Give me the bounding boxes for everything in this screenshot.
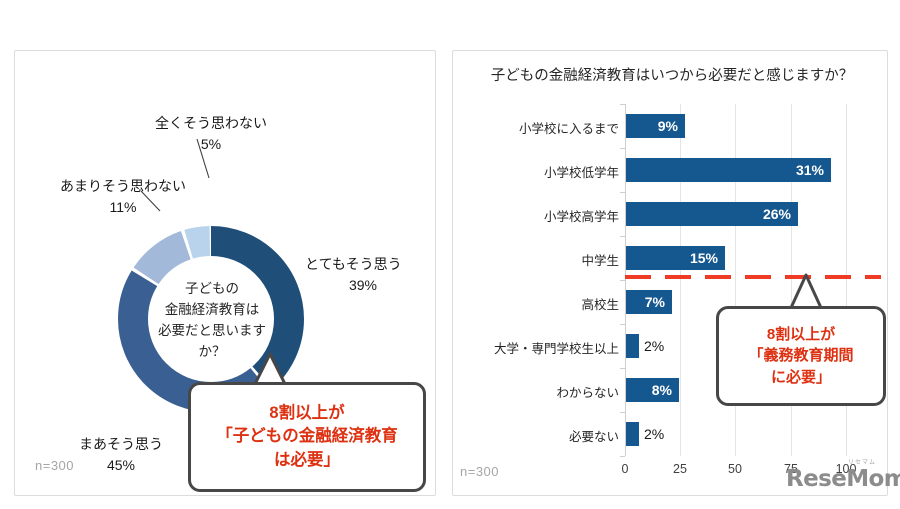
bar-category-1: 小学校低学年 <box>459 162 619 181</box>
y-tick-1 <box>620 148 625 149</box>
bar-value-4: 7% <box>645 294 672 310</box>
bar-category-7: 必要ない <box>459 426 619 445</box>
y-axis-line <box>625 104 626 456</box>
gridline-25 <box>680 104 681 456</box>
resemom-logo: ReseMom. リセマム <box>786 466 900 492</box>
y-tick-2 <box>620 192 625 193</box>
callout-left-line-3: は必要」 <box>216 449 398 472</box>
donut-label-zenku-name: 全くそう思わない <box>121 113 301 134</box>
bar-category-0: 小学校に入るまで <box>459 118 619 137</box>
bar-category-2: 小学校高学年 <box>459 206 619 225</box>
donut-label-maa-name: まあそう思う <box>51 434 191 455</box>
bar-row-6: 8% <box>626 378 679 402</box>
resemom-logo-kana: リセマム <box>848 457 876 466</box>
bar-row-7 <box>626 422 639 446</box>
bar-value-2: 26% <box>763 206 798 222</box>
bar-category-3: 中学生 <box>459 250 619 269</box>
sample-size-left: n=300 <box>35 458 74 473</box>
x-tick-label-50: 50 <box>728 462 742 476</box>
annotation-dashed-line <box>625 275 881 279</box>
bar-row-4: 7% <box>626 290 672 314</box>
donut-label-amari: あまりそう思わない 11% <box>33 176 213 218</box>
x-tick-label-25: 25 <box>673 462 687 476</box>
y-tick-8 <box>620 456 625 457</box>
bar-value-5: 2% <box>644 338 664 354</box>
bar-category-4: 高校生 <box>459 294 619 313</box>
callout-left-line-1: 8割以上が <box>216 402 398 425</box>
bar-category-6: わからない <box>459 382 619 401</box>
callout-right-line-2: 「義務教育期間 <box>748 345 853 366</box>
donut-label-totemo-pct: 39% <box>305 275 421 296</box>
screenshot-root: 全くそう思わない 5% あまりそう思わない 11% とてもそう思う 39% まあ… <box>0 0 900 509</box>
resemom-logo-text: ReseMom. <box>786 466 900 492</box>
donut-center-line-3: 必要だと思います <box>135 321 289 342</box>
y-tick-4 <box>620 280 625 281</box>
bar-value-6: 8% <box>652 382 679 398</box>
callout-left: 8割以上が 「子どもの金融経済教育 は必要」 <box>188 382 426 492</box>
y-tick-3 <box>620 236 625 237</box>
donut-label-zenku-pct: 5% <box>121 134 301 155</box>
x-tick-label-0: 0 <box>622 462 629 476</box>
y-tick-6 <box>620 368 625 369</box>
callout-right-line-3: に必要」 <box>748 367 853 388</box>
donut-center-line-2: 金融経済教育は <box>135 300 289 321</box>
bar-row-0: 9% <box>626 114 685 138</box>
bar-chart-title: 子どもの金融経済教育はいつから必要だと感じますか？ <box>470 64 874 85</box>
bar-value-3: 15% <box>690 250 725 266</box>
bar-row-5 <box>626 334 639 358</box>
sample-size-right: n=300 <box>460 464 499 479</box>
donut-center-line-1: 子どもの <box>135 279 289 300</box>
donut-label-amari-pct: 11% <box>33 197 213 218</box>
callout-right: 8割以上が 「義務教育期間 に必要」 <box>716 306 886 406</box>
bar-value-7: 2% <box>644 426 664 442</box>
y-tick-5 <box>620 324 625 325</box>
donut-label-amari-name: あまりそう思わない <box>33 176 213 197</box>
callout-right-line-1: 8割以上が <box>748 324 853 345</box>
y-tick-7 <box>620 412 625 413</box>
callout-left-line-2: 「子どもの金融経済教育 <box>216 425 398 448</box>
bar-row-1: 31% <box>626 158 831 182</box>
donut-label-zenku: 全くそう思わない 5% <box>121 113 301 155</box>
bar-row-3: 15% <box>626 246 725 270</box>
donut-label-totemo-name: とてもそう思う <box>305 254 435 275</box>
donut-center-text: 子どもの 金融経済教育は 必要だと思います か？ <box>135 279 289 363</box>
y-tick-0 <box>620 104 625 105</box>
bar-value-0: 9% <box>658 118 685 134</box>
bar-value-1: 31% <box>796 162 831 178</box>
bar-row-2: 26% <box>626 202 798 226</box>
bar-category-5: 大学・専門学校生以上 <box>459 338 619 357</box>
donut-label-totemo: とてもそう思う 39% <box>305 254 435 296</box>
